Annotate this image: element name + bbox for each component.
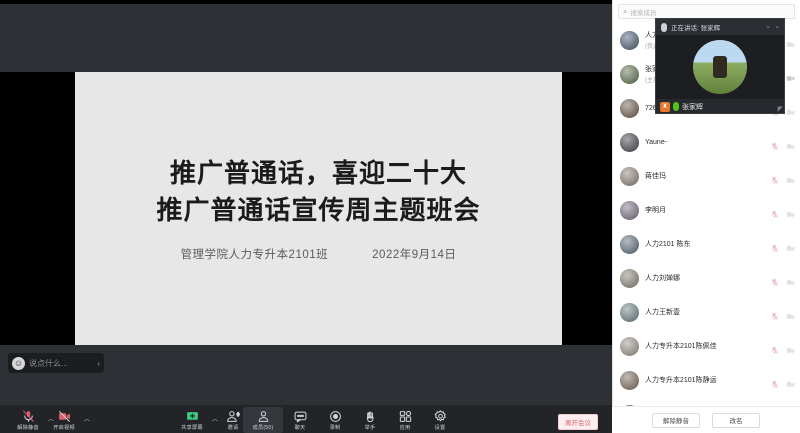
toolbar-raise-hand-label: 举手	[365, 424, 376, 431]
microphone-muted-icon[interactable]	[770, 376, 779, 385]
toolbar-chat-label: 聊天	[295, 424, 306, 431]
microphone-muted-icon[interactable]	[770, 308, 779, 317]
avatar	[620, 371, 639, 390]
avatar	[620, 337, 639, 356]
record-icon	[329, 410, 342, 423]
members-icon	[257, 410, 270, 423]
toolbar-unmute-label: 解除静音	[17, 424, 39, 431]
toolbar-raise-hand-button[interactable]: 举手	[350, 407, 390, 433]
video-subject	[713, 56, 727, 78]
video-avatar-circle	[693, 40, 747, 94]
camera-off-icon[interactable]	[786, 206, 795, 215]
self-video-feed	[656, 35, 784, 99]
toolbar-record-button[interactable]: 录制	[315, 407, 355, 433]
participant-row[interactable]: 人力刘婵娜	[613, 261, 800, 295]
avatar	[620, 133, 639, 152]
camera-off-icon[interactable]	[786, 240, 795, 249]
avatar	[620, 201, 639, 220]
camera-off-icon[interactable]	[786, 138, 795, 147]
camera-off-icon[interactable]	[786, 172, 795, 181]
gear-icon	[434, 410, 447, 423]
search-placeholder: 搜索成员	[630, 7, 656, 17]
avatar	[620, 31, 639, 50]
toolbar-share-screen-button[interactable]: 共享屏幕	[172, 407, 212, 433]
toolbar-settings-label: 设置	[435, 424, 446, 431]
avatar	[620, 303, 639, 322]
microphone-muted-icon[interactable]	[770, 240, 779, 249]
participant-name: 李明月	[645, 205, 764, 215]
invite-person-icon	[227, 410, 240, 423]
chevron-left-icon[interactable]: ‹	[97, 359, 100, 368]
resize-handle-icon[interactable]: ◤	[778, 105, 783, 113]
chat-bubble-icon	[294, 410, 307, 423]
shared-screen-slide: 推广普通话，喜迎二十大 推广普通话宣传周主题班会 管理学院人力专升本2101班 …	[75, 72, 562, 345]
microphone-muted-icon[interactable]	[770, 138, 779, 147]
avatar	[620, 269, 639, 288]
microphone-muted-icon	[22, 410, 35, 423]
microphone-muted-icon[interactable]	[770, 274, 779, 283]
slide-date-label: 2022年9月14日	[372, 246, 456, 262]
participant-name: 人力专升本2101陈佩佳	[645, 341, 764, 351]
self-video-titlebar[interactable]: 正在讲话: 张家辉 ⌄ ⌄	[656, 19, 784, 35]
microphone-muted-icon[interactable]	[770, 342, 779, 351]
quick-chat-placeholder: 说点什么...	[29, 358, 93, 369]
participant-row[interactable]: 人力专升本2101陈静运	[613, 363, 800, 397]
participant-name: Yaune-	[645, 139, 764, 146]
slide-title-line-1: 推广普通话，喜迎二十大	[81, 155, 556, 192]
host-icon: ♜	[660, 102, 670, 112]
toolbar-apps-button[interactable]: 应用	[385, 407, 425, 433]
smiley-icon[interactable]: ☺	[12, 357, 25, 370]
camera-off-icon[interactable]	[786, 376, 795, 385]
video-stage: 推广普通话，喜迎二十大 推广普通话宣传周主题班会 管理学院人力专升本2101班 …	[0, 0, 612, 405]
participant-name: 人力刘婵娜	[645, 273, 764, 283]
camera-off-icon[interactable]	[786, 274, 795, 283]
participant-row[interactable]: 蒋佳玛	[613, 159, 800, 193]
collapse-icon[interactable]: ⌄	[774, 22, 780, 30]
participant-row[interactable]: Yaune-	[613, 125, 800, 159]
participant-row[interactable]: 人力王新壹	[613, 295, 800, 329]
leave-meeting-button[interactable]: 离开会议	[558, 414, 598, 430]
toolbar-settings-button[interactable]: 设置	[420, 407, 460, 433]
toolbar-apps-label: 应用	[400, 424, 411, 431]
meeting-window: 推广普通话，喜迎二十大 推广普通话宣传周主题班会 管理学院人力专升本2101班 …	[0, 0, 800, 433]
camera-off-icon[interactable]	[786, 36, 795, 45]
toolbar-members-label: 成员(50)	[253, 424, 274, 431]
participant-name: 蒋佳玛	[645, 171, 764, 181]
toolbar-start-video-chevron-up-icon[interactable]: ︿	[84, 414, 90, 423]
toolbar-invite-label: 邀请	[228, 424, 239, 431]
microphone-icon	[661, 23, 667, 32]
screen-share-icon	[186, 410, 199, 423]
participant-name: 人力专升本2101陈静运	[645, 375, 764, 385]
camera-off-icon[interactable]	[786, 342, 795, 351]
slide-title-line-2: 推广普通话宣传周主题班会	[81, 192, 556, 229]
camera-off-icon	[58, 410, 71, 423]
camera-on-icon[interactable]	[786, 70, 795, 79]
microphone-on-icon	[673, 102, 679, 111]
participant-name: 人力王新壹	[645, 307, 764, 317]
rename-button[interactable]: 改名	[712, 413, 760, 428]
self-video-name: 张家辉	[682, 102, 703, 112]
stage-top-chrome	[0, 4, 612, 72]
minimize-icon[interactable]: ⌄	[765, 22, 771, 30]
search-icon: ⌕	[623, 7, 627, 17]
avatar	[620, 235, 639, 254]
participant-row[interactable]: 李明月	[613, 193, 800, 227]
self-video-nameplate: ♜ 张家辉 ◤	[656, 99, 784, 114]
participant-name: 人力2101 陈东	[645, 239, 764, 249]
toolbar-share-screen-label: 共享屏幕	[181, 424, 203, 431]
meeting-toolbar: 解除静音︿开启视频︿共享屏幕︿邀请成员(50)聊天录制举手应用设置	[0, 405, 612, 433]
camera-off-icon[interactable]	[786, 308, 795, 317]
toolbar-record-label: 录制	[330, 424, 341, 431]
quick-chat-input[interactable]: ☺ 说点什么... ‹	[8, 353, 104, 373]
microphone-muted-icon[interactable]	[770, 206, 779, 215]
toolbar-start-video-button[interactable]: 开启视频	[44, 407, 84, 433]
microphone-muted-icon[interactable]	[770, 172, 779, 181]
toolbar-members-button[interactable]: 成员(50)	[243, 407, 283, 433]
slide-class-label: 管理学院人力专升本2101班	[181, 246, 329, 262]
toolbar-start-video-label: 开启视频	[53, 424, 75, 431]
apps-grid-icon	[399, 410, 412, 423]
camera-off-icon[interactable]	[786, 104, 795, 113]
self-video-thumbnail[interactable]: 正在讲话: 张家辉 ⌄ ⌄ ♜ 张家辉 ◤	[655, 18, 785, 114]
unmute-all-button[interactable]: 解除静音	[652, 413, 700, 428]
raise-hand-icon	[364, 410, 377, 423]
avatar	[620, 65, 639, 84]
participant-row[interactable]: 人力2101 陈东	[613, 227, 800, 261]
participants-footer: 解除静音 改名	[612, 406, 800, 433]
toolbar-unmute-button[interactable]: 解除静音	[8, 407, 48, 433]
avatar	[620, 99, 639, 118]
participant-row[interactable]: 人力专升本2101程子晏	[613, 397, 800, 406]
avatar	[620, 167, 639, 186]
search-input[interactable]: ⌕ 搜索成员	[618, 4, 795, 19]
participant-row[interactable]: 人力专升本2101陈佩佳	[613, 329, 800, 363]
toolbar-chat-button[interactable]: 聊天	[280, 407, 320, 433]
speaking-status-label: 正在讲话: 张家辉	[671, 22, 720, 32]
